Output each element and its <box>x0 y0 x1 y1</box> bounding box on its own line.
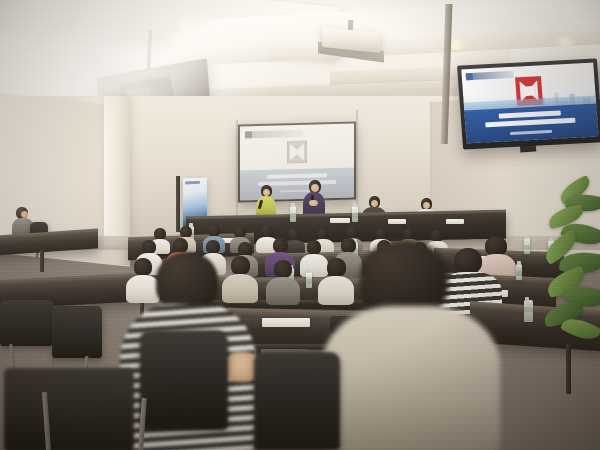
speaker-4-face <box>423 202 430 209</box>
downlight-3 <box>553 36 577 47</box>
attendee-beige-front <box>322 240 500 450</box>
attendee-left-wall-face <box>21 211 28 218</box>
chair-left-b <box>52 306 102 358</box>
chair-front-right-back <box>254 352 340 450</box>
bottle-row3r <box>516 264 522 280</box>
table-left-1-leg <box>40 250 44 272</box>
paper-row4-a <box>262 318 310 327</box>
attendee-r2-6-head <box>307 240 321 255</box>
banner-pole <box>176 176 180 232</box>
screen-slide-logo-icon <box>286 140 308 165</box>
head-table-paper-3 <box>446 219 464 224</box>
screen-slide-header <box>245 130 303 139</box>
attendee-r2-purple-head <box>273 238 288 253</box>
speaker-1-face <box>263 189 270 196</box>
seminar-room-photo <box>0 0 600 450</box>
bag-foreground <box>4 368 134 450</box>
attendee-beige-front-head <box>360 240 448 316</box>
head-table-paper-2 <box>388 219 406 224</box>
bottle-mid-2 <box>524 238 530 254</box>
speaker-2-face <box>311 184 319 192</box>
speaker-2-hands <box>309 200 318 206</box>
tv-screen-surface <box>461 63 598 144</box>
potted-plant <box>540 180 600 360</box>
downlight-1 <box>163 33 189 46</box>
tv-slide-title-line-1 <box>499 111 561 119</box>
chair-front-striped-back <box>140 330 228 430</box>
tv-slide-title-band <box>464 104 598 143</box>
chair-front-right <box>254 352 340 450</box>
attendee-beige-front-torso <box>322 306 500 450</box>
attendee-r3-3-head <box>274 260 292 278</box>
speaker-3-face <box>371 200 378 207</box>
bag-foreground-body <box>4 368 134 450</box>
bottle-row4r <box>524 300 533 322</box>
wall-mounted-tv <box>457 58 600 149</box>
attendee-striped-front-head <box>156 252 218 310</box>
attendee-r2-orange-head <box>173 238 188 253</box>
tv-slide-date-line <box>510 130 552 135</box>
screen-slide-title-line-1 <box>267 173 327 179</box>
chair-left-a <box>0 300 54 346</box>
head-table-paper-1 <box>330 218 350 223</box>
wall-column <box>104 96 130 246</box>
head-table-bottle-1 <box>290 206 296 222</box>
tv-slide-title-line-2 <box>485 118 575 128</box>
head-table-bottle-2 <box>352 206 358 222</box>
attendee-r3-3 <box>266 260 300 304</box>
chair-front-striped <box>120 330 230 450</box>
attendee-r3-3-torso <box>266 277 300 305</box>
bottle-row3-b <box>306 272 312 288</box>
